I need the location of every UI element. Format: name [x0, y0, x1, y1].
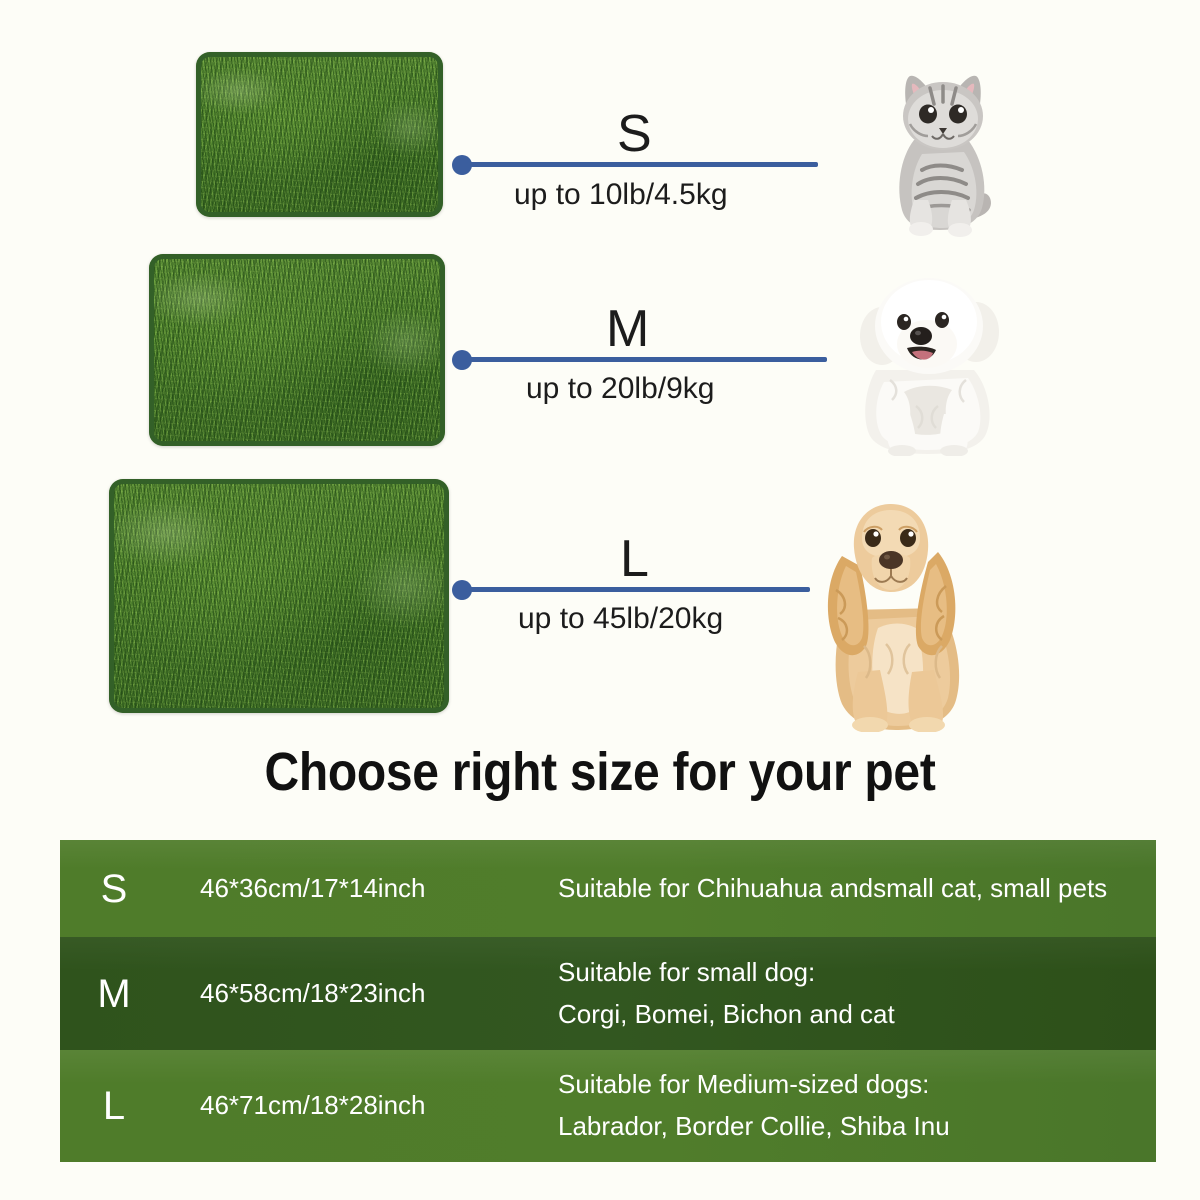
- size-letter-s: S: [617, 108, 652, 160]
- table-cell-dimensions-s: 46*36cm/17*14inch: [168, 874, 558, 904]
- grass-pad-medium-image: [149, 254, 445, 446]
- size-letter-m: M: [606, 303, 649, 355]
- size-weight-m: up to 20lb/9kg: [526, 374, 714, 404]
- description-line-2: Corgi, Bomei, Bichon and cat: [558, 994, 1150, 1036]
- table-cell-size-s: S: [60, 869, 168, 909]
- grey-tabby-kitten-image: [852, 58, 1032, 246]
- golden-cocker-spaniel-dog-image: [800, 494, 982, 732]
- table-cell-description-m: Suitable for small dog: Corgi, Bomei, Bi…: [558, 952, 1156, 1035]
- description-line-2: Labrador, Border Collie, Shiba Inu: [558, 1106, 1150, 1148]
- size-specification-table: S 46*36cm/17*14inch Suitable for Chihuah…: [60, 840, 1156, 1162]
- mat-edge-binding: [149, 254, 445, 446]
- table-cell-size-m: M: [60, 974, 168, 1014]
- table-cell-description-l: Suitable for Medium-sized dogs: Labrador…: [558, 1064, 1156, 1147]
- page-title: Choose right size for your pet: [0, 742, 1200, 804]
- description-line-1: Suitable for Chihuahua andsmall cat, sma…: [558, 868, 1150, 910]
- size-weight-s: up to 10lb/4.5kg: [514, 180, 728, 210]
- mat-edge-binding: [109, 479, 449, 713]
- grass-pad-large-image: [109, 479, 449, 713]
- white-bichon-dog-image: [832, 274, 1024, 456]
- table-row-l: L 46*71cm/18*28inch Suitable for Medium-…: [60, 1050, 1156, 1162]
- table-row-m: M 46*58cm/18*23inch Suitable for small d…: [60, 937, 1156, 1050]
- description-line-1: Suitable for Medium-sized dogs:: [558, 1064, 1150, 1106]
- table-cell-dimensions-m: 46*58cm/18*23inch: [168, 979, 558, 1009]
- table-row-s: S 46*36cm/17*14inch Suitable for Chihuah…: [60, 840, 1156, 937]
- table-cell-description-s: Suitable for Chihuahua andsmall cat, sma…: [558, 868, 1156, 910]
- mat-edge-binding: [196, 52, 443, 217]
- description-line-1: Suitable for small dog:: [558, 952, 1150, 994]
- size-weight-l: up to 45lb/20kg: [518, 604, 723, 634]
- table-cell-size-l: L: [60, 1086, 168, 1126]
- table-cell-dimensions-l: 46*71cm/18*28inch: [168, 1091, 558, 1121]
- grass-pad-small-image: [196, 52, 443, 217]
- product-size-chart-infographic: S up to 10lb/4.5kg M up to 20lb/9kg L up…: [0, 0, 1200, 1200]
- size-letter-l: L: [620, 533, 649, 585]
